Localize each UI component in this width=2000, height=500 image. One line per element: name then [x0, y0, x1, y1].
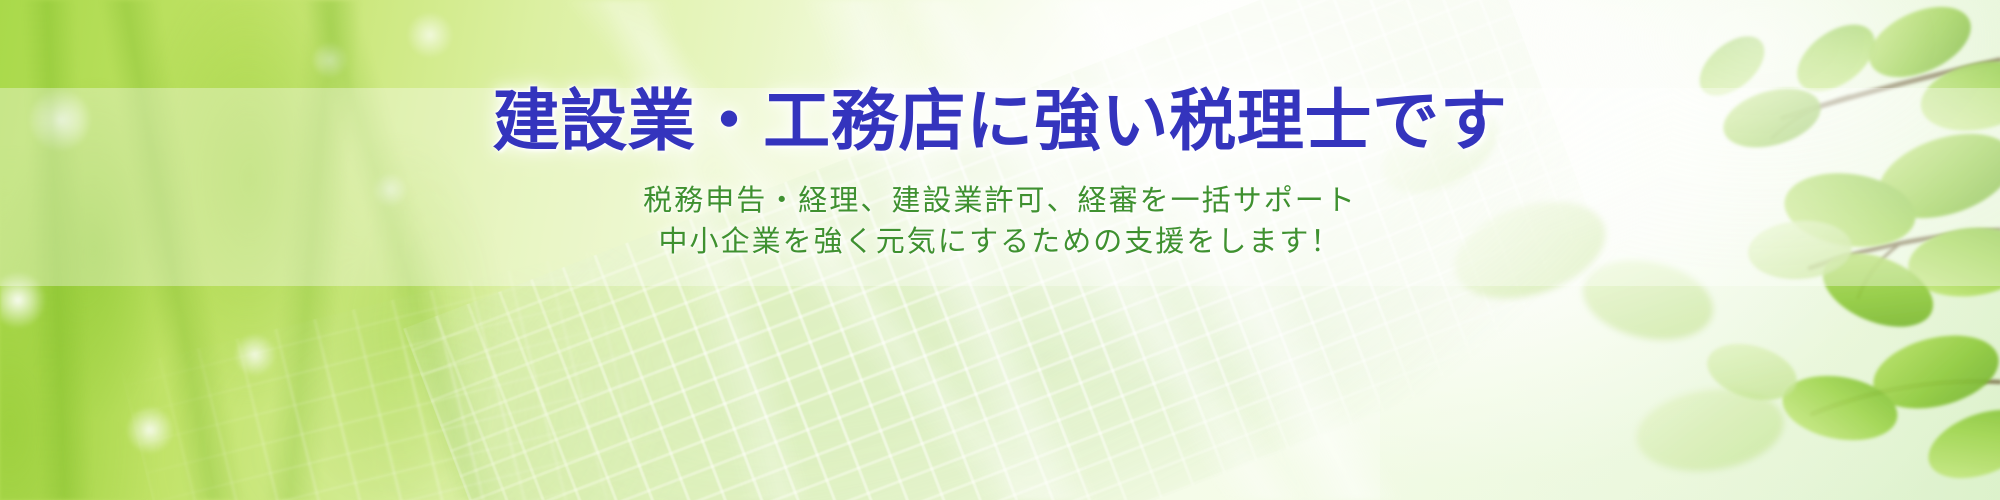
hero-copy: 建設業・工務店に強い税理士です 税務申告・経理、建設業許可、経審を一括サポート …	[0, 84, 2000, 263]
hero-subtitle-line-2: 中小企業を強く元気にするための支援をします！	[0, 222, 2000, 263]
hero-subtitle-line-1: 税務申告・経理、建設業許可、経審を一括サポート	[0, 181, 2000, 222]
page-title: 建設業・工務店に強い税理士です	[0, 84, 2000, 159]
building-secondary-icon	[119, 242, 701, 500]
hero-banner: 建設業・工務店に強い税理士です 税務申告・経理、建設業許可、経審を一括サポート …	[0, 0, 2000, 500]
